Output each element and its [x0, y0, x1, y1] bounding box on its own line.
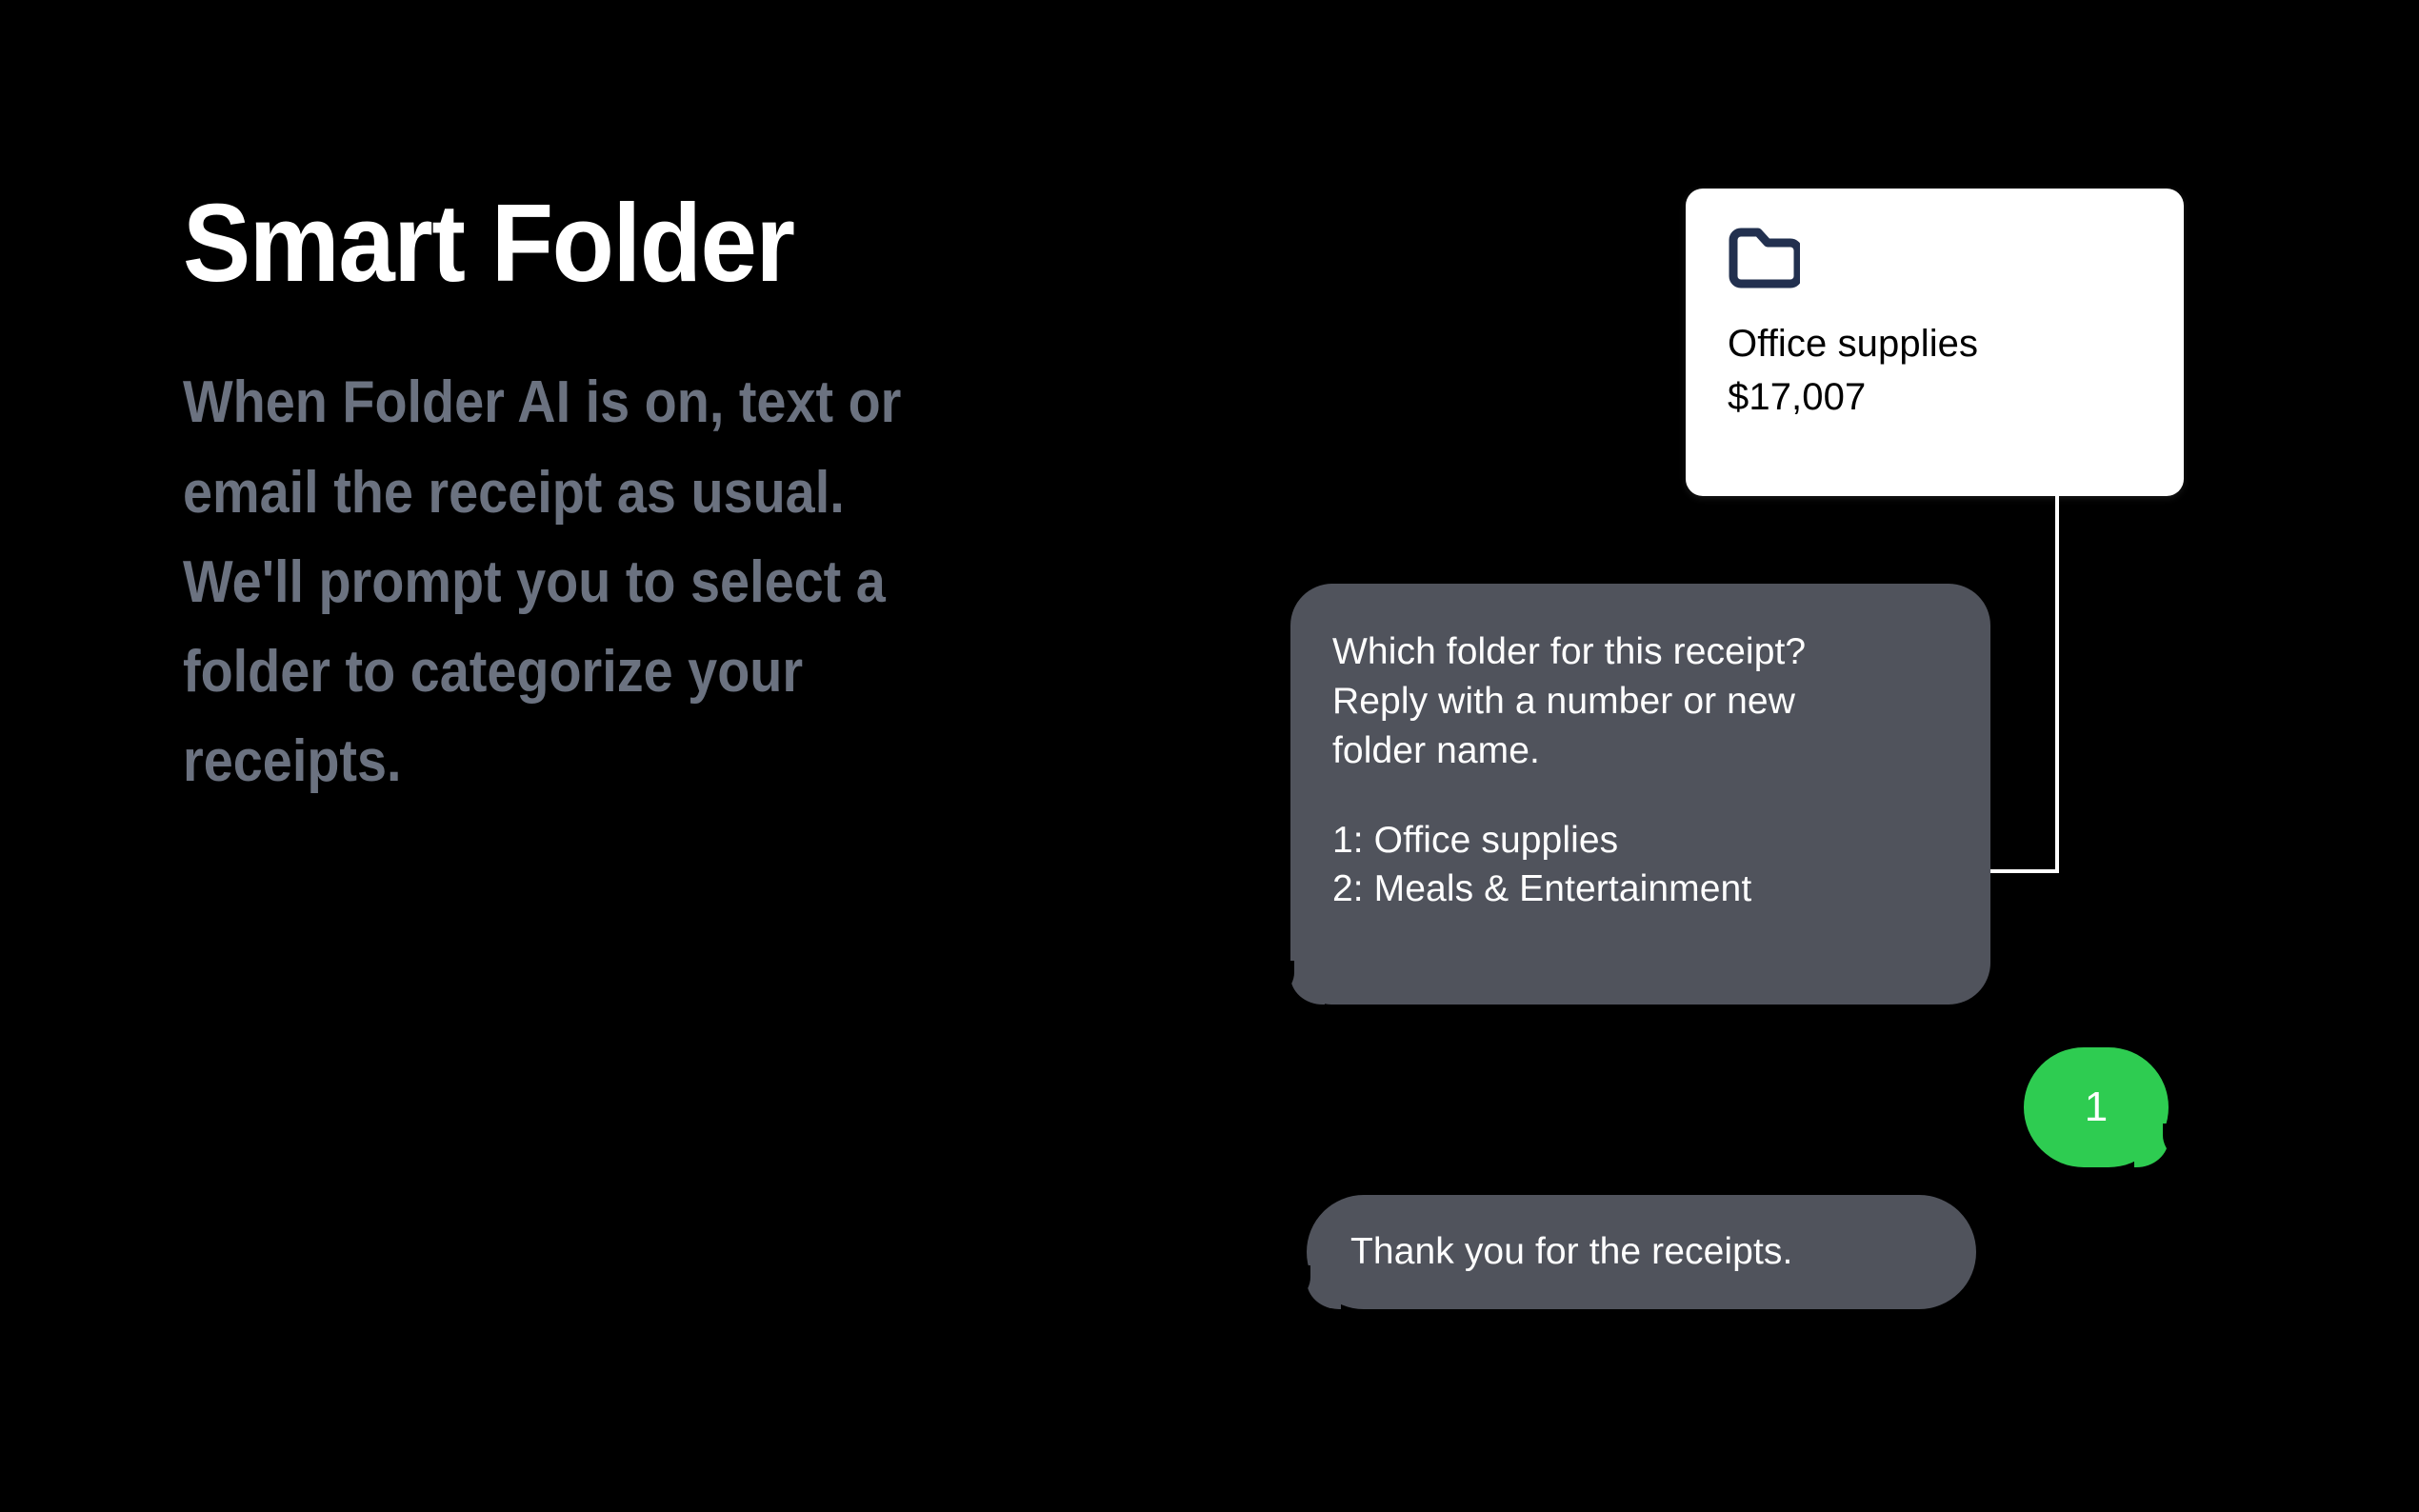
folder-card-title: Office supplies: [1728, 320, 2142, 368]
thanks-bubble-text: Thank you for the receipts.: [1350, 1227, 1792, 1277]
reply-bubble-text: 1: [2085, 1086, 2108, 1128]
prompt-option-1[interactable]: 1: Office supplies: [1332, 816, 1949, 865]
bubble-tail: [2134, 1124, 2182, 1167]
prompt-line-1: Which folder for this receipt?: [1332, 627, 1949, 677]
message-bubble-prompt[interactable]: Which folder for this receipt? Reply wit…: [1290, 584, 1990, 1005]
prompt-options-list: 1: Office supplies 2: Meals & Entertainm…: [1332, 816, 1949, 915]
message-bubble-thanks[interactable]: Thank you for the receipts.: [1307, 1195, 1976, 1309]
bubble-tail: [1275, 961, 1325, 1005]
page-description: When Folder AI is on, text or email the …: [183, 299, 980, 806]
prompt-option-2[interactable]: 2: Meals & Entertainment: [1332, 865, 1949, 914]
message-bubble-reply[interactable]: 1: [2024, 1047, 2169, 1167]
folder-card[interactable]: Office supplies $17,007: [1686, 189, 2184, 496]
folder-card-amount: $17,007: [1728, 373, 2142, 421]
bubble-tail: [1291, 1265, 1341, 1309]
prompt-line-2: Reply with a number or new: [1332, 677, 1949, 726]
hero-text-column: Smart Folder When Folder AI is on, text …: [183, 187, 1097, 806]
folder-icon: [1728, 227, 1800, 289]
page-title: Smart Folder: [183, 187, 1024, 299]
prompt-line-3: folder name.: [1332, 726, 1949, 776]
